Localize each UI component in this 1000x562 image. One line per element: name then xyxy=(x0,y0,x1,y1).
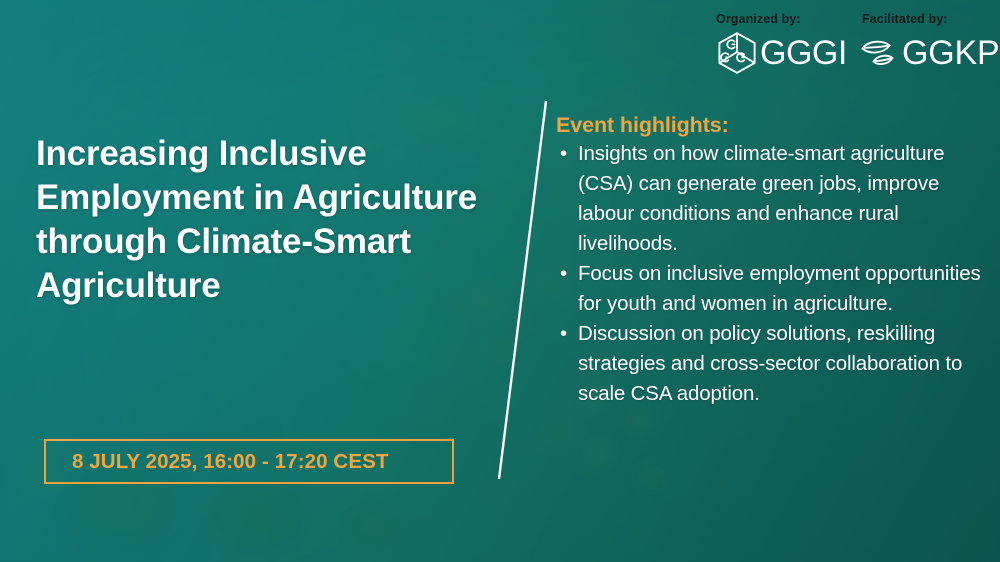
organized-by-block: Organized by: GGGI xyxy=(716,12,847,75)
gggi-logo: GGGI xyxy=(716,31,847,75)
highlights-heading: Event highlights: xyxy=(556,113,984,138)
ggkp-leaf-icon xyxy=(858,31,900,75)
list-item: • Discussion on policy solutions, reskil… xyxy=(556,319,984,409)
facilitated-by-block: Facilitated by: GGKP xyxy=(858,12,999,75)
gggi-wordmark: GGGI xyxy=(760,36,847,70)
list-item: • Insights on how climate-smart agricult… xyxy=(556,139,984,259)
organized-by-label: Organized by: xyxy=(716,12,847,26)
bullet-icon: • xyxy=(556,319,578,409)
highlights-list: • Insights on how climate-smart agricult… xyxy=(556,139,984,409)
list-item-text: Focus on inclusive employment opportunit… xyxy=(578,259,984,319)
event-highlights-panel: Event highlights: • Insights on how clim… xyxy=(556,113,984,409)
event-date-text: 8 JULY 2025, 16:00 - 17:20 CEST xyxy=(72,450,389,474)
bullet-icon: • xyxy=(556,139,578,259)
gggi-cube-icon xyxy=(716,31,758,75)
credits-bar: Organized by: GGGI Fa xyxy=(690,0,1000,96)
list-item: • Focus on inclusive employment opportun… xyxy=(556,259,984,319)
event-date-badge: 8 JULY 2025, 16:00 - 17:20 CEST xyxy=(44,439,454,484)
ggkp-wordmark: GGKP xyxy=(902,36,999,70)
facilitated-by-label: Facilitated by: xyxy=(858,12,999,26)
slide-title: Increasing Inclusive Employment in Agric… xyxy=(36,132,536,308)
ggkp-logo: GGKP xyxy=(858,31,999,75)
list-item-text: Discussion on policy solutions, reskilli… xyxy=(578,319,984,409)
event-promo-slide: Organized by: GGGI Fa xyxy=(0,0,1000,562)
list-item-text: Insights on how climate-smart agricultur… xyxy=(578,139,984,259)
bullet-icon: • xyxy=(556,259,578,319)
